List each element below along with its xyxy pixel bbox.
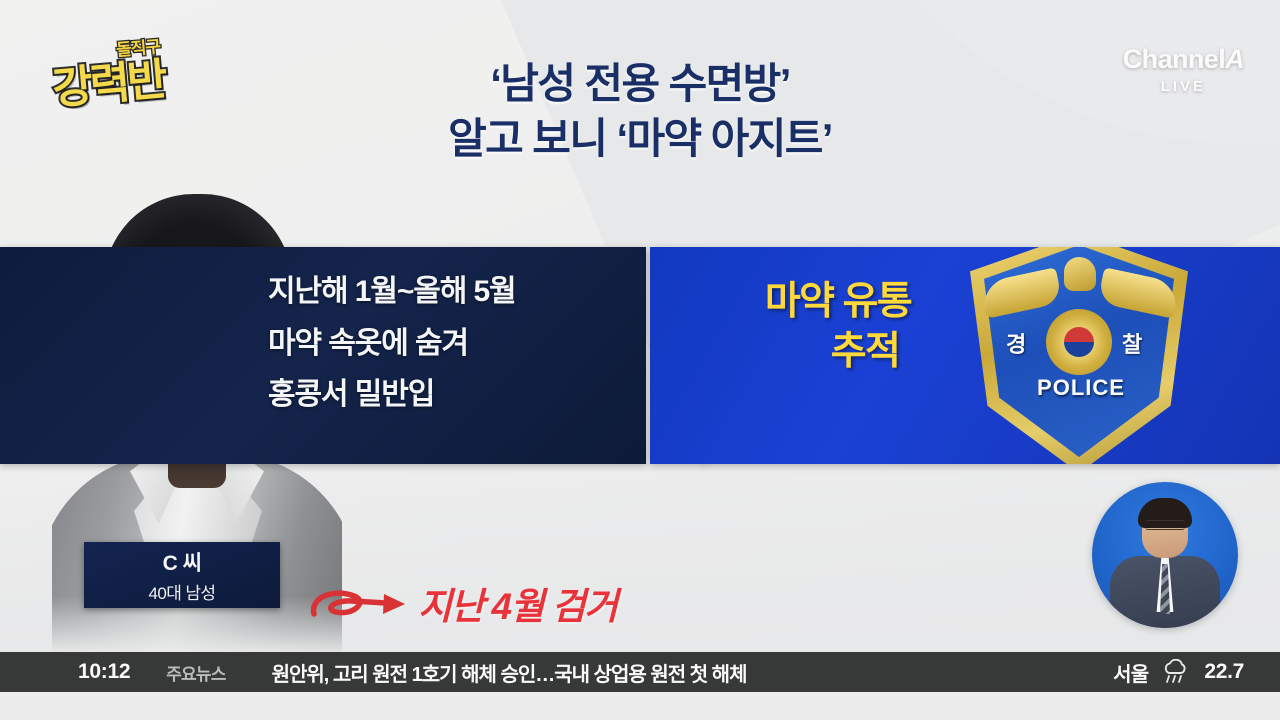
nameplate-name: C 씨: [84, 547, 280, 577]
info-line-3: 홍콩서 밀반입: [268, 369, 648, 421]
info-line-1: 지난해 1월~올해 5월: [268, 266, 648, 318]
curved-arrow-icon: [306, 580, 414, 632]
info-line-2: 마약 속옷에 숨겨: [268, 318, 648, 370]
police-panel-headline: 마약 유통 추적: [688, 277, 988, 377]
bottom-strip: [0, 692, 1280, 720]
ticker-category-label: 주요뉴스: [166, 660, 225, 685]
info-panel-text: 지난해 1월~올해 5월 마약 속옷에 숨겨 홍콩서 밀반입: [268, 266, 648, 421]
police-panel: 마약 유통 추적 경 찰 POLICE: [650, 247, 1280, 464]
headline-line-1: ‘남성 전용 수면방’: [0, 56, 1280, 111]
arrest-annotation-text: 지난 4월 검거: [418, 576, 617, 630]
police-headline-line-1: 마약 유통: [688, 277, 988, 327]
police-headline-line-2: 추적: [742, 327, 988, 377]
emblem-char-right: 찰: [1122, 327, 1142, 359]
arrest-annotation: 지난 4월 검거: [306, 578, 726, 640]
emblem-police-word: POLICE: [960, 375, 1202, 401]
nameplate-description: 40대 남성: [84, 579, 280, 604]
emblem-char-left: 경: [1006, 327, 1026, 359]
weather-temperature: 22.7: [1204, 660, 1244, 684]
ticker-time: 10:12: [78, 660, 130, 684]
ticker-headline: 원안위, 고리 원전 1호기 해체 승인…국내 상업용 원전 첫 해체: [272, 658, 747, 687]
news-ticker-bar: 10:12 주요뉴스 원안위, 고리 원전 1호기 해체 승인…국내 상업용 원…: [0, 652, 1280, 692]
weather-city: 서울: [1113, 658, 1148, 687]
police-emblem-icon: 경 찰 POLICE: [960, 247, 1202, 464]
emblem-taegeuk-icon: [1064, 327, 1094, 357]
rain-cloud-icon: [1161, 659, 1191, 685]
subject-nameplate: C 씨 40대 남성: [84, 542, 280, 608]
emblem-eagle-head-icon: [1064, 257, 1096, 291]
broadcast-frame: 돌직구 강력반 ChannelA LIVE ‘남성 전용 수면방’ 알고 보니 …: [0, 0, 1280, 720]
headline: ‘남성 전용 수면방’ 알고 보니 ‘마약 아지트’: [0, 56, 1280, 167]
weather-block: 서울 22.7: [1113, 658, 1244, 687]
anchor-glasses-icon: [1145, 520, 1185, 530]
anchor-inset: [1092, 482, 1238, 628]
headline-line-2: 알고 보니 ‘마약 아지트’: [0, 111, 1280, 166]
